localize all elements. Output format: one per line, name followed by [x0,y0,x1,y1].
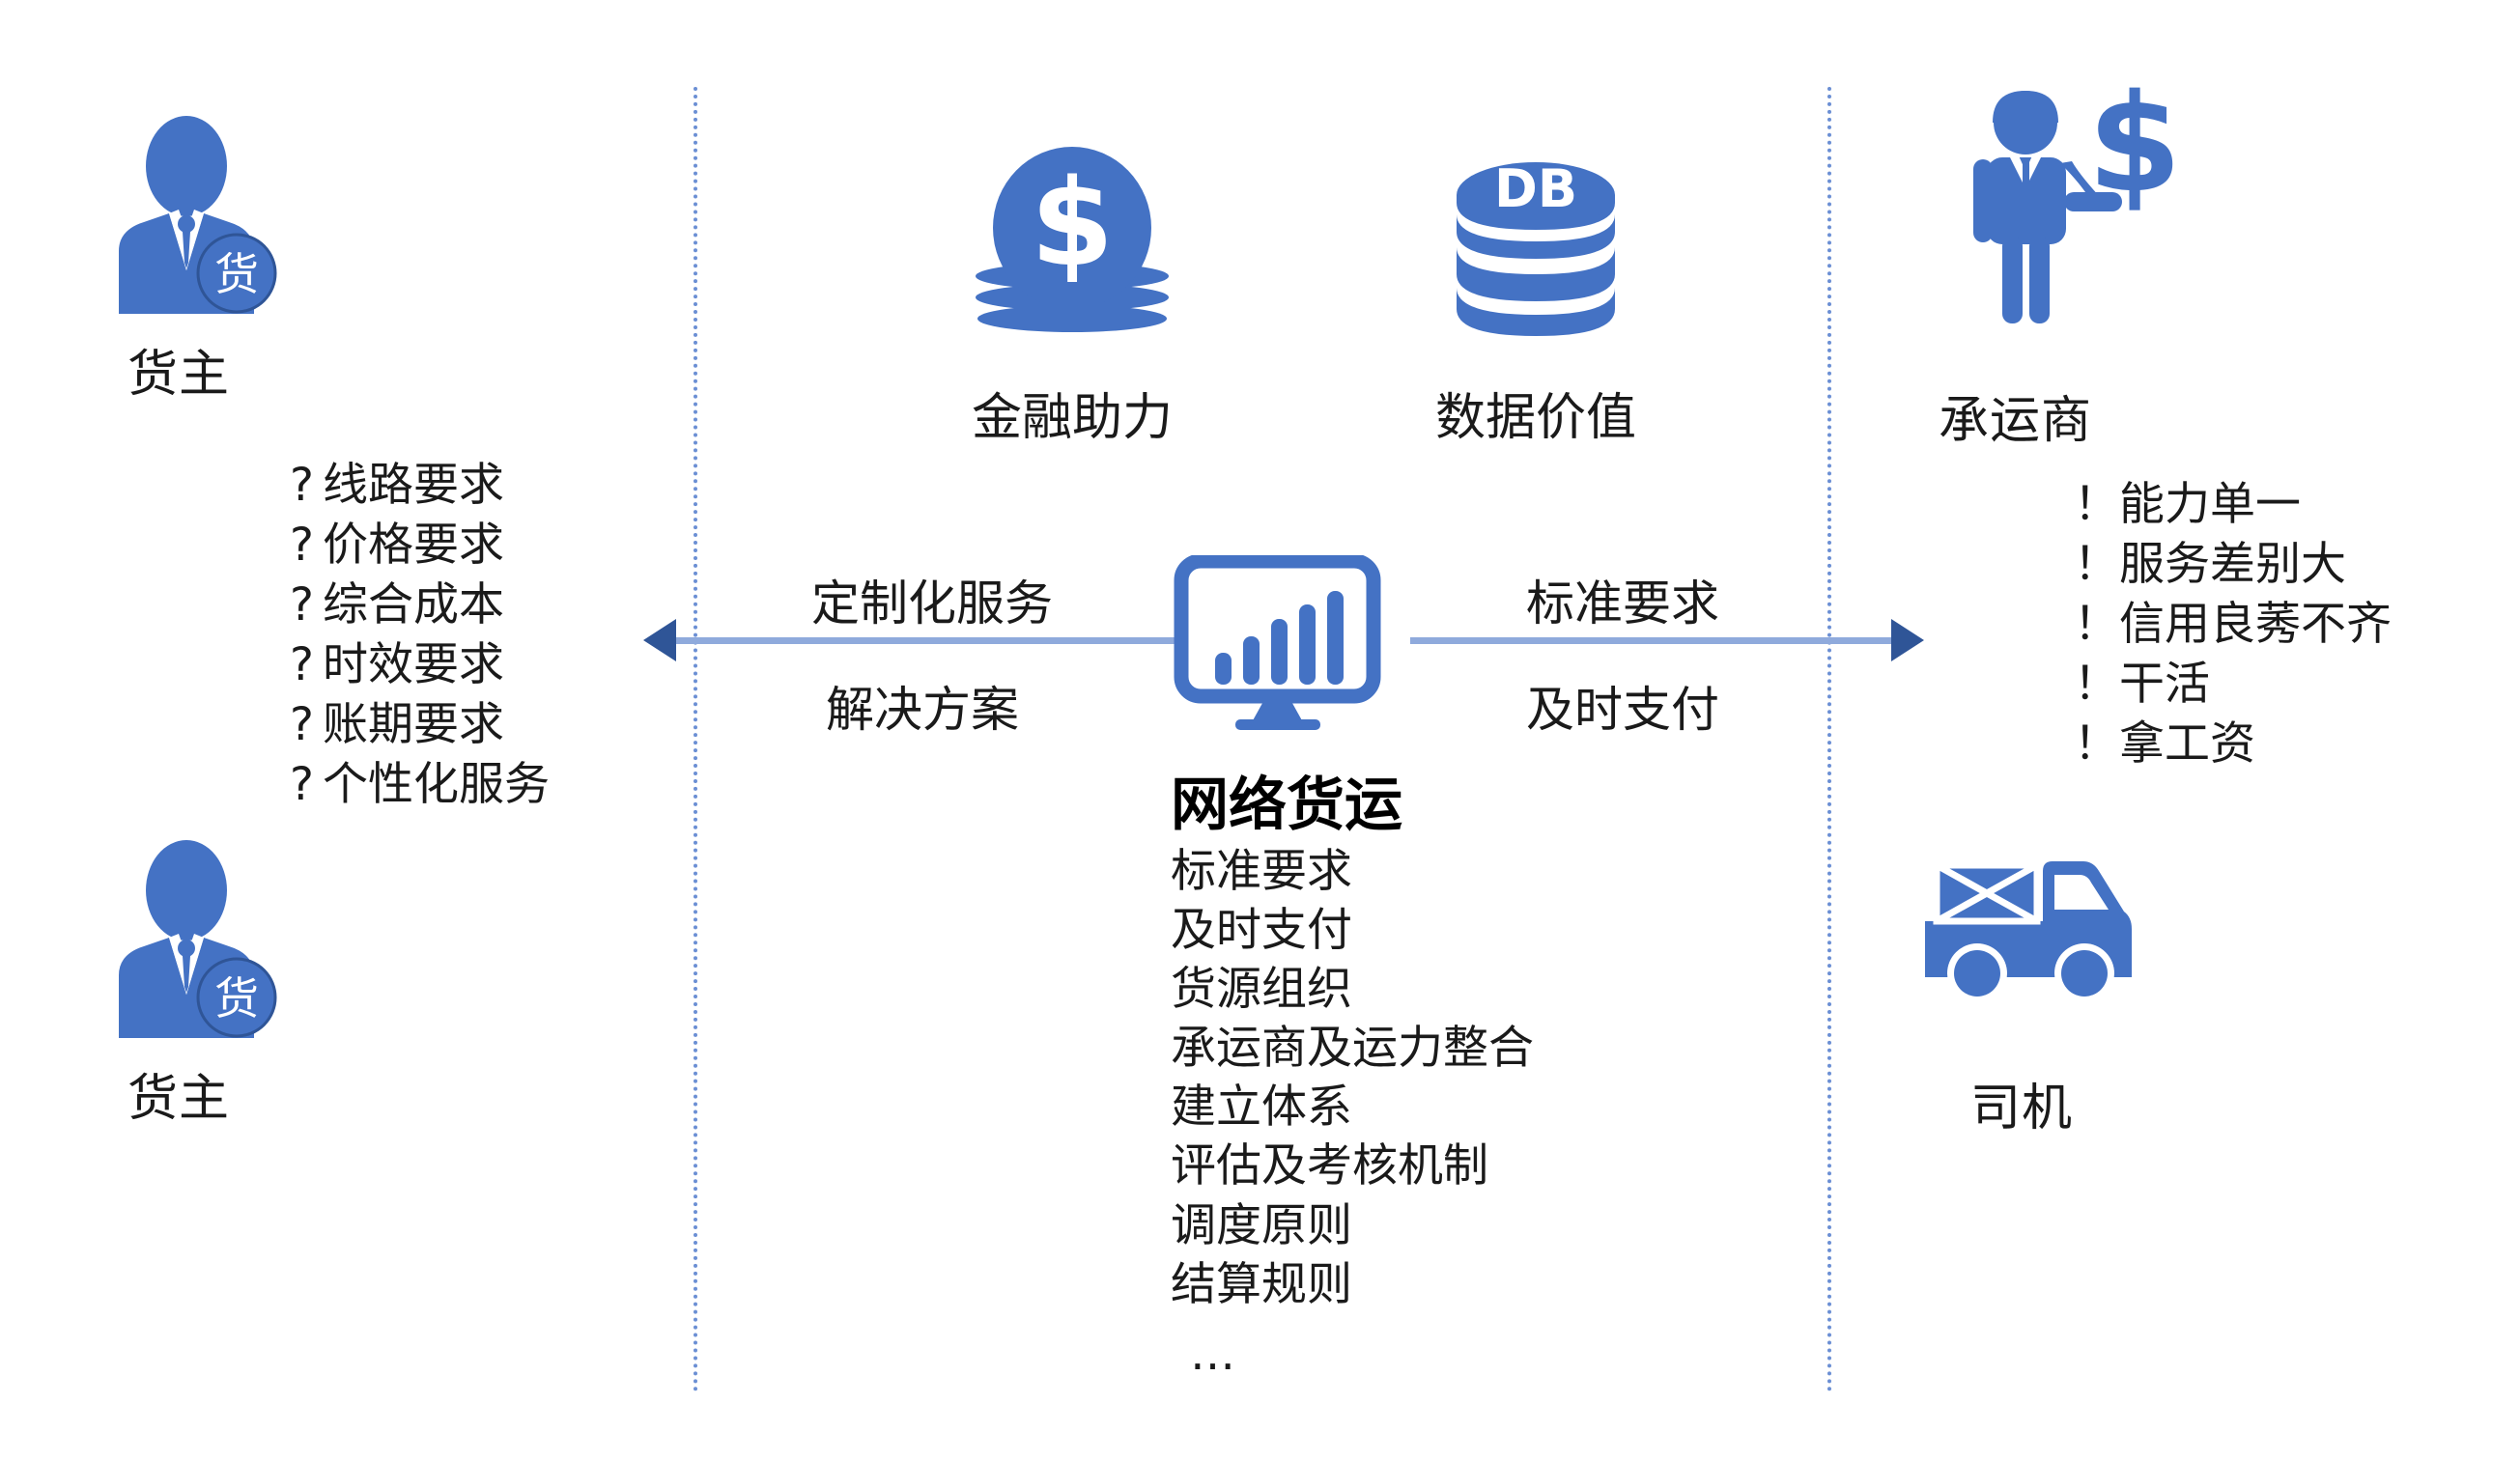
hub-title: 网络货运 [1171,758,1402,842]
divider-line-left [694,87,697,1392]
finance-support-caption: 金融助力 [966,377,1178,449]
question-mark-icon: ? [290,576,323,635]
data-value-caption: 数据价值 [1420,377,1652,449]
badge-text: 货 [214,248,259,300]
question-mark-icon: ? [290,456,323,516]
issue-text: 拿工资 [2119,717,2255,771]
question-mark-icon: ? [290,635,323,695]
left-arrow-line [676,637,1188,644]
badge-text: 货 [214,972,259,1025]
list-item: 建立体系 [1171,1078,1534,1137]
shipper-person-icon: 货 [101,116,295,319]
list-item: ！干活 [2074,655,2392,715]
list-item: 及时支付 [1171,901,1534,960]
exclamation-mark-icon: ！ [2074,475,2119,535]
left-arrow-caption-top: 定制化服务 [811,565,1053,634]
list-item: 评估及考核机制 [1171,1137,1534,1195]
shipper-top-label: 货主 [127,333,230,406]
truck-icon [1917,850,2149,1019]
carrier-label: 承运商 [1939,379,2092,452]
right-arrow-caption-bottom: 及时支付 [1526,671,1719,741]
exclamation-mark-icon: ！ [2074,535,2119,595]
hub-ellipsis: … [1190,1328,1241,1381]
carrier-issues-list: ！能力单一 ！服务差别大 ！信用良莠不齐 ！干活 ！拿工资 [2074,475,2392,774]
requirement-text: 账期要求 [323,698,504,751]
issue-text: 服务差别大 [2119,538,2346,591]
svg-text:$: $ [1031,154,1114,294]
list-item: ?综合成本 [290,576,550,635]
list-item: ?个性化服务 [290,755,550,815]
exclamation-mark-icon: ！ [2074,655,2119,715]
data-value-group: DB [1439,147,1632,340]
list-item: ?线路要求 [290,456,550,516]
driver-group [1917,850,2149,1019]
requirement-text: 时效要求 [323,638,504,691]
left-arrow-head [643,619,676,661]
requirement-text: 综合成本 [323,578,504,632]
requirement-text: 个性化服务 [323,758,550,811]
divider-line-right [1827,87,1831,1392]
right-arrow-line [1410,637,1893,644]
hub-capability-list: 标准要求 及时支付 货源组织 承运商及运力整合 建立体系 评估及考核机制 调度原… [1171,842,1534,1314]
list-item: 调度原则 [1171,1196,1534,1255]
list-item: 承运商及运力整合 [1171,1019,1534,1078]
question-mark-icon: ? [290,755,323,815]
list-item: ?时效要求 [290,635,550,695]
requirement-text: 线路要求 [323,459,504,512]
network-freight-monitor-group [1174,555,1381,734]
svg-text:DB: DB [1494,158,1577,219]
coin-stack-dollar-icon: $ [966,145,1178,338]
svg-text:$: $ [2087,82,2181,223]
database-cylinder-icon: DB [1439,147,1632,340]
list-item: ！信用良莠不齐 [2074,595,2392,655]
list-item: ！服务差别大 [2074,535,2392,595]
diagram-canvas: 货 货主 ?线路要求 ?价格要求 ?综合成本 ?时效要求 ?账期要求 ?个性化服… [0,0,2520,1460]
list-item: ?账期要求 [290,695,550,755]
left-arrow-caption-bottom: 解决方案 [826,671,1019,741]
requirement-text: 价格要求 [323,519,504,572]
driver-label: 司机 [1970,1067,2073,1139]
right-arrow-head [1891,619,1924,661]
finance-support-group: $ [966,145,1178,338]
list-item: 结算规则 [1171,1255,1534,1314]
carrier-group: $ [1956,82,2188,328]
right-arrow-caption-top: 标准要求 [1526,565,1719,634]
list-item: ！拿工资 [2074,715,2392,774]
issue-text: 能力单一 [2119,478,2301,531]
shipper-bottom-label: 货主 [127,1057,230,1130]
businessman-with-dollar-icon: $ [1956,82,2188,328]
shipper-top-group: 货 [101,116,295,319]
monitor-bar-chart-icon [1174,555,1381,734]
shipper-person-icon: 货 [101,840,295,1043]
question-mark-icon: ? [290,695,323,755]
question-mark-icon: ? [290,516,323,576]
list-item: 标准要求 [1171,842,1534,901]
exclamation-mark-icon: ！ [2074,595,2119,655]
shipper-requirements-list: ?线路要求 ?价格要求 ?综合成本 ?时效要求 ?账期要求 ?个性化服务 [290,456,550,815]
list-item: ?价格要求 [290,516,550,576]
exclamation-mark-icon: ！ [2074,715,2119,774]
list-item: ！能力单一 [2074,475,2392,535]
shipper-bottom-group: 货 [101,840,295,1043]
issue-text: 信用良莠不齐 [2119,598,2392,651]
list-item: 货源组织 [1171,960,1534,1019]
issue-text: 干活 [2119,658,2210,711]
